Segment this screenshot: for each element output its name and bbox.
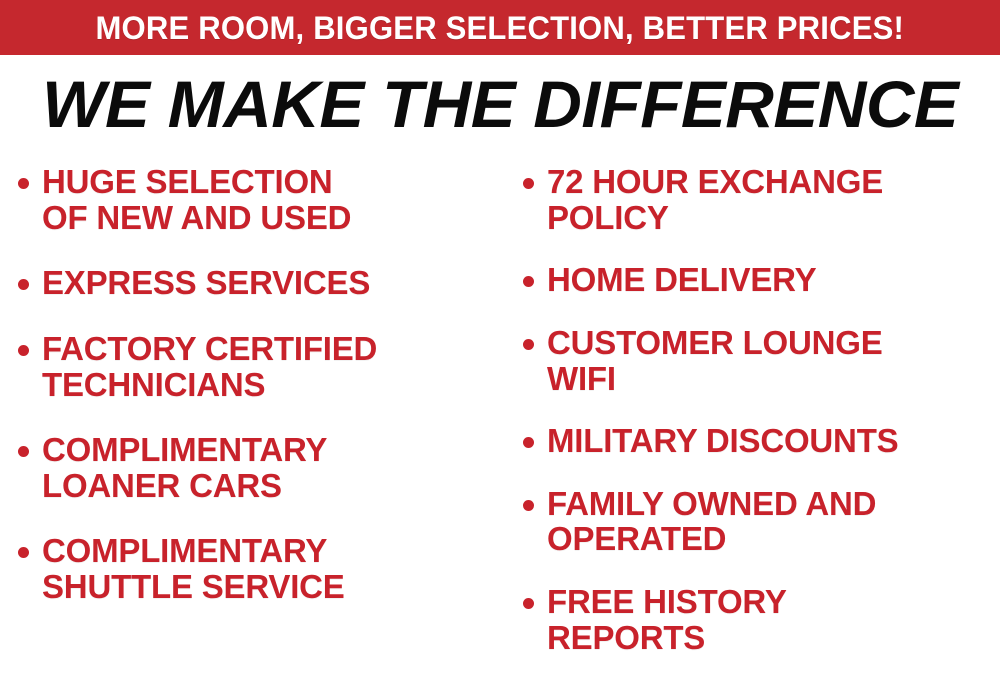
- bullet-dot-icon: [523, 178, 534, 189]
- list-item-label: 72 HOUR EXCHANGE POLICY: [547, 164, 1000, 235]
- bullet-dot-icon: [18, 446, 29, 457]
- top-banner: MORE ROOM, BIGGER SELECTION, BETTER PRIC…: [0, 0, 1000, 55]
- bullet-dot-icon: [18, 178, 29, 189]
- bullet-dot-icon: [523, 598, 534, 609]
- banner-headline-text: MORE ROOM, BIGGER SELECTION, BETTER PRIC…: [96, 12, 905, 44]
- headline-container: WE MAKE THE DIFFERENCE: [0, 62, 1000, 146]
- list-item: FREE HISTORY REPORTS: [523, 584, 1000, 655]
- list-item-label: HUGE SELECTION OF NEW AND USED: [32, 164, 505, 235]
- list-item: MILITARY DISCOUNTS: [523, 423, 1000, 459]
- benefits-column-left: HUGE SELECTION OF NEW AND USEDEXPRESS SE…: [0, 152, 505, 605]
- bullet-dot-icon: [523, 437, 534, 448]
- list-item-label: FREE HISTORY REPORTS: [537, 584, 1000, 655]
- bullet-dot-icon: [523, 276, 534, 287]
- list-item-label: HOME DELIVERY: [547, 262, 1000, 298]
- bullet-dot-icon: [523, 500, 534, 511]
- list-item: HUGE SELECTION OF NEW AND USED: [18, 164, 505, 235]
- list-item: 72 HOUR EXCHANGE POLICY: [523, 164, 1000, 235]
- bullet-dot-icon: [18, 547, 29, 558]
- benefits-column-right: 72 HOUR EXCHANGE POLICYHOME DELIVERYCUST…: [505, 152, 1000, 655]
- list-item: FACTORY CERTIFIED TECHNICIANS: [18, 331, 505, 402]
- list-item: COMPLIMENTARY SHUTTLE SERVICE: [18, 533, 505, 604]
- benefits-columns: HUGE SELECTION OF NEW AND USEDEXPRESS SE…: [0, 152, 1000, 694]
- list-item-label: FACTORY CERTIFIED TECHNICIANS: [42, 331, 505, 402]
- list-item-label: COMPLIMENTARY LOANER CARS: [32, 432, 505, 503]
- page-title: WE MAKE THE DIFFERENCE: [42, 71, 958, 137]
- bullet-dot-icon: [18, 279, 29, 290]
- bullet-dot-icon: [18, 345, 29, 356]
- list-item-label: FAMILY OWNED AND OPERATED: [537, 486, 1000, 557]
- list-item: EXPRESS SERVICES: [18, 265, 505, 301]
- advertisement-poster: MORE ROOM, BIGGER SELECTION, BETTER PRIC…: [0, 0, 1000, 694]
- list-item: HOME DELIVERY: [523, 262, 1000, 298]
- list-item: FAMILY OWNED AND OPERATED: [523, 486, 1000, 557]
- list-item: CUSTOMER LOUNGE WIFI: [523, 325, 1000, 396]
- bullet-dot-icon: [523, 339, 534, 350]
- list-item-label: COMPLIMENTARY SHUTTLE SERVICE: [32, 533, 505, 604]
- list-item-label: EXPRESS SERVICES: [42, 265, 505, 301]
- list-item-label: MILITARY DISCOUNTS: [547, 423, 1000, 459]
- list-item: COMPLIMENTARY LOANER CARS: [18, 432, 505, 503]
- list-item-label: CUSTOMER LOUNGE WIFI: [547, 325, 1000, 396]
